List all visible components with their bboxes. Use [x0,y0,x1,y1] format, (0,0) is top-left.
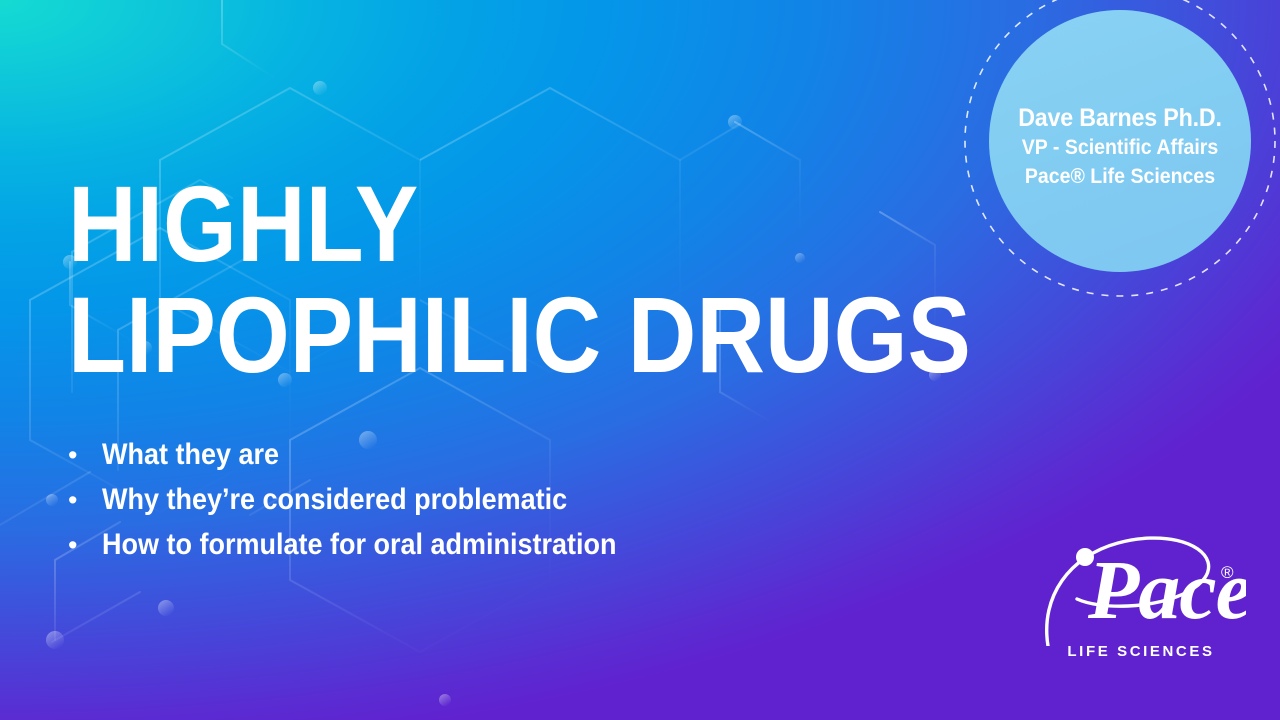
pace-logo: Pace ® LIFE SCIENCES [1036,534,1246,674]
bullet-text: What they are [102,432,279,477]
bullet-list: • What they are • Why they’re considered… [68,432,674,567]
title-line-1: HIGHLY [68,168,971,279]
bullet-icon: • [68,523,102,568]
bullet-icon: • [68,433,102,478]
svg-text:Pace: Pace [1087,544,1246,637]
bullet-text: How to formulate for oral administration [102,522,617,567]
speaker-role: VP - Scientific Affairs [967,133,1274,162]
bullet-icon: • [68,478,102,523]
list-item: • What they are [68,432,674,477]
slide-title: HIGHLY LIPOPHILIC DRUGS [68,168,1094,390]
logo-tagline: LIFE SCIENCES [1036,643,1246,660]
svg-text:®: ® [1221,563,1234,582]
list-item: • Why they’re considered problematic [68,477,674,522]
presentation-slide: Dave Barnes Ph.D. VP - Scientific Affair… [0,0,1280,720]
title-line-2: LIPOPHILIC DRUGS [68,279,971,390]
pace-wordmark-icon: Pace ® [1036,534,1246,646]
list-item: • How to formulate for oral administrati… [68,522,674,567]
speaker-name: Dave Barnes Ph.D. [967,103,1274,133]
bullet-text: Why they’re considered problematic [102,477,567,522]
